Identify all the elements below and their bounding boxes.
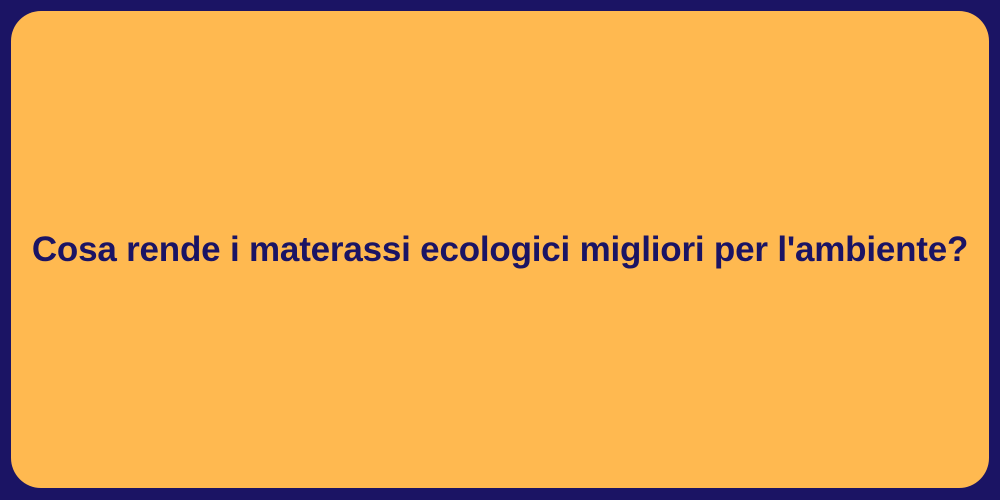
page-title: Cosa rende i materassi ecologici miglior… — [32, 228, 968, 272]
content-card: Cosa rende i materassi ecologici miglior… — [11, 11, 989, 488]
heading-container: Cosa rende i materassi ecologici miglior… — [11, 228, 989, 272]
banner-frame: Cosa rende i materassi ecologici miglior… — [0, 0, 1000, 500]
